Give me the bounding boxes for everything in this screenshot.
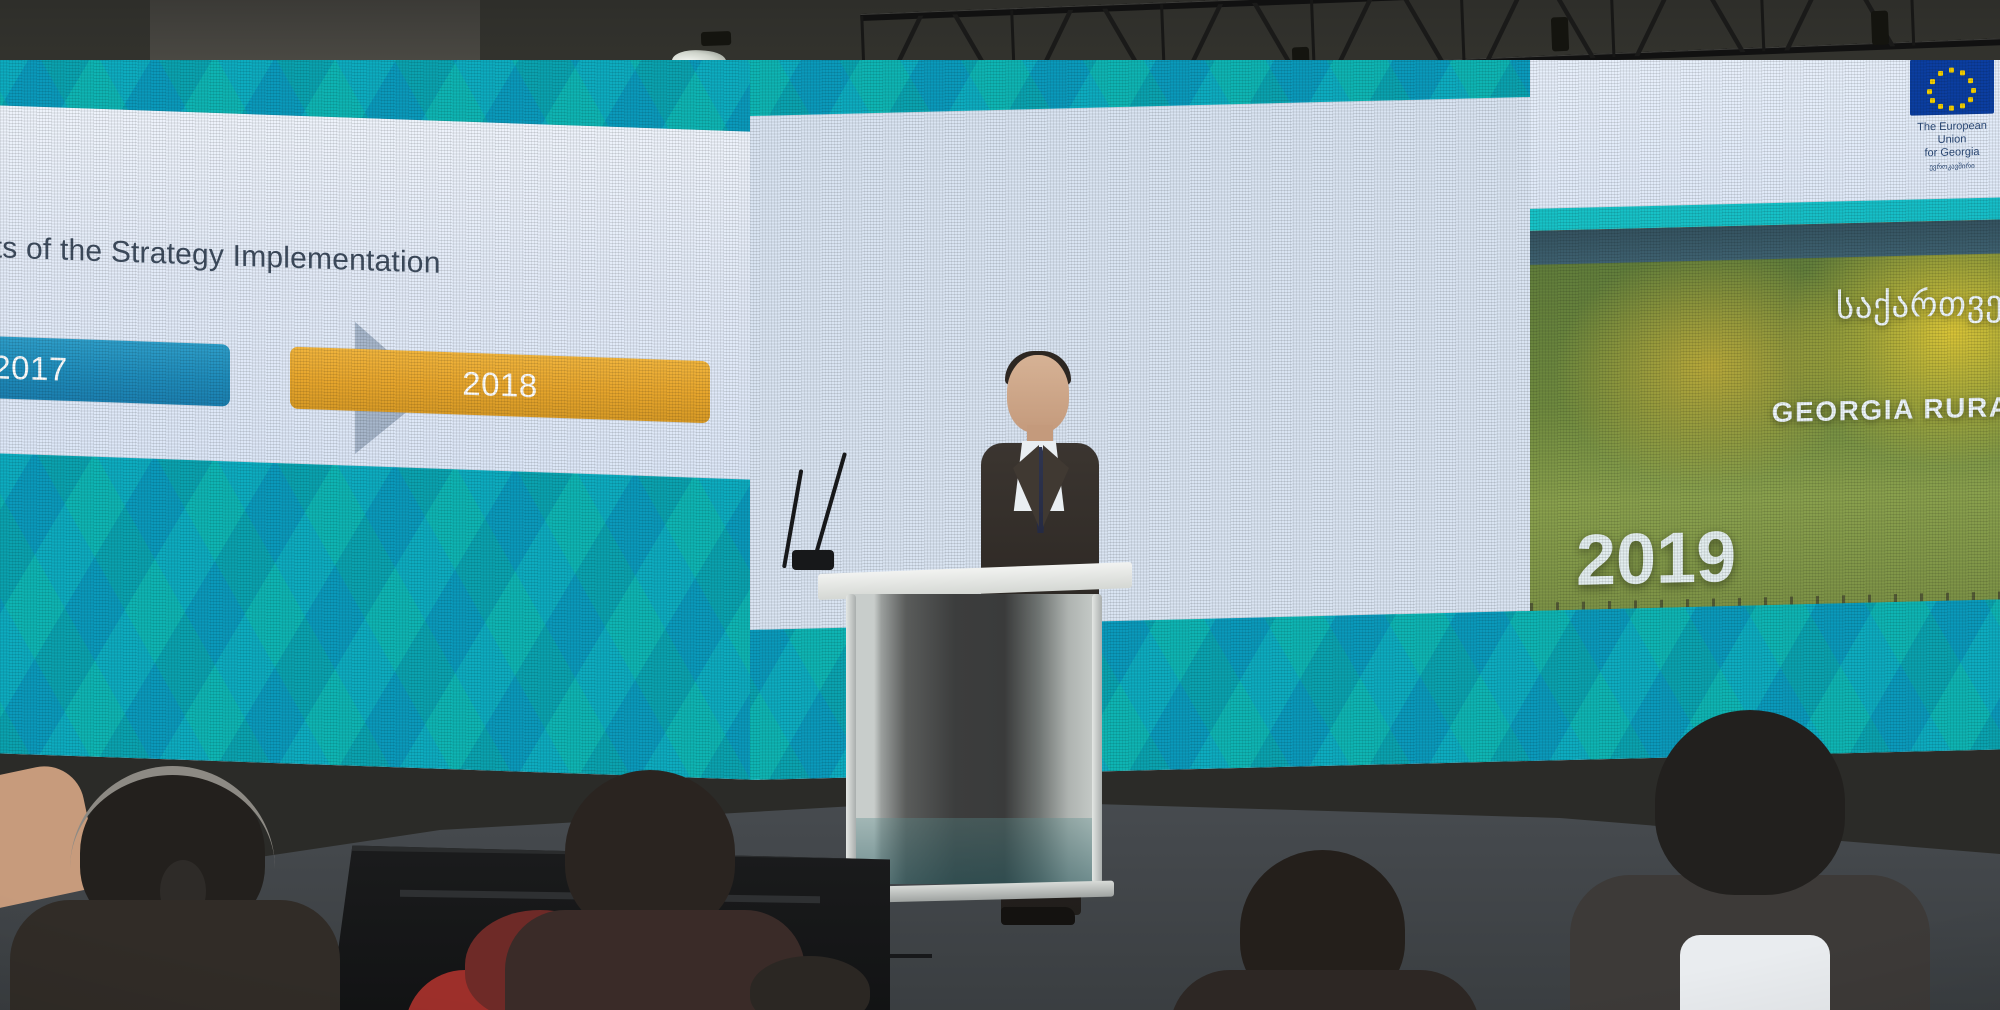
- logo-row: The European Union for Georgia ევროკავში…: [1910, 60, 2000, 178]
- eu-logo-caption-line1: The European Union: [1910, 120, 1994, 148]
- headphones-icon: [70, 766, 275, 876]
- microphone-base: [792, 550, 834, 570]
- stage-lamp-icon: [1551, 17, 1569, 52]
- stage-lamp-icon: [1871, 11, 1889, 46]
- year-badge-2018: 2018: [290, 347, 710, 424]
- poster-header: The European Union for Georgia ევროკავში…: [1530, 60, 2000, 209]
- audience-member-small: [720, 950, 900, 1010]
- audience-member-center-right: [1170, 810, 1480, 1010]
- left-screen-panel: ults of the Strategy Implementation 2017…: [0, 60, 760, 780]
- poster-year-badge: 2019: [1576, 516, 1736, 602]
- eu-logo-caption-line2: for Georgia: [1910, 146, 1994, 161]
- poster-title-georgian: საქართველოს სოფლის განვითარების კონფერენ…: [1530, 260, 2000, 385]
- audience-member-far-right: [1560, 710, 1920, 1010]
- stage-lamp-icon: [701, 31, 732, 46]
- triangle-pattern-bottom: [0, 452, 760, 780]
- year-badge-2017: 2017: [0, 331, 230, 407]
- results-slide: ults of the Strategy Implementation 2017…: [0, 104, 760, 512]
- conference-photo-scene: ults of the Strategy Implementation 2017…: [0, 0, 2000, 1010]
- eu-flag-icon: [1910, 60, 1994, 116]
- audience-member-headphones: [10, 750, 340, 1010]
- eu-logo: The European Union for Georgia ევროკავში…: [1910, 60, 1994, 172]
- poster-title-georgian-line1: საქართველოს სოფლის განვითარების: [1530, 260, 2000, 338]
- page-title: ults of the Strategy Implementation: [0, 230, 441, 280]
- eu-logo-caption-line3: ევროკავშირი: [1910, 162, 1994, 172]
